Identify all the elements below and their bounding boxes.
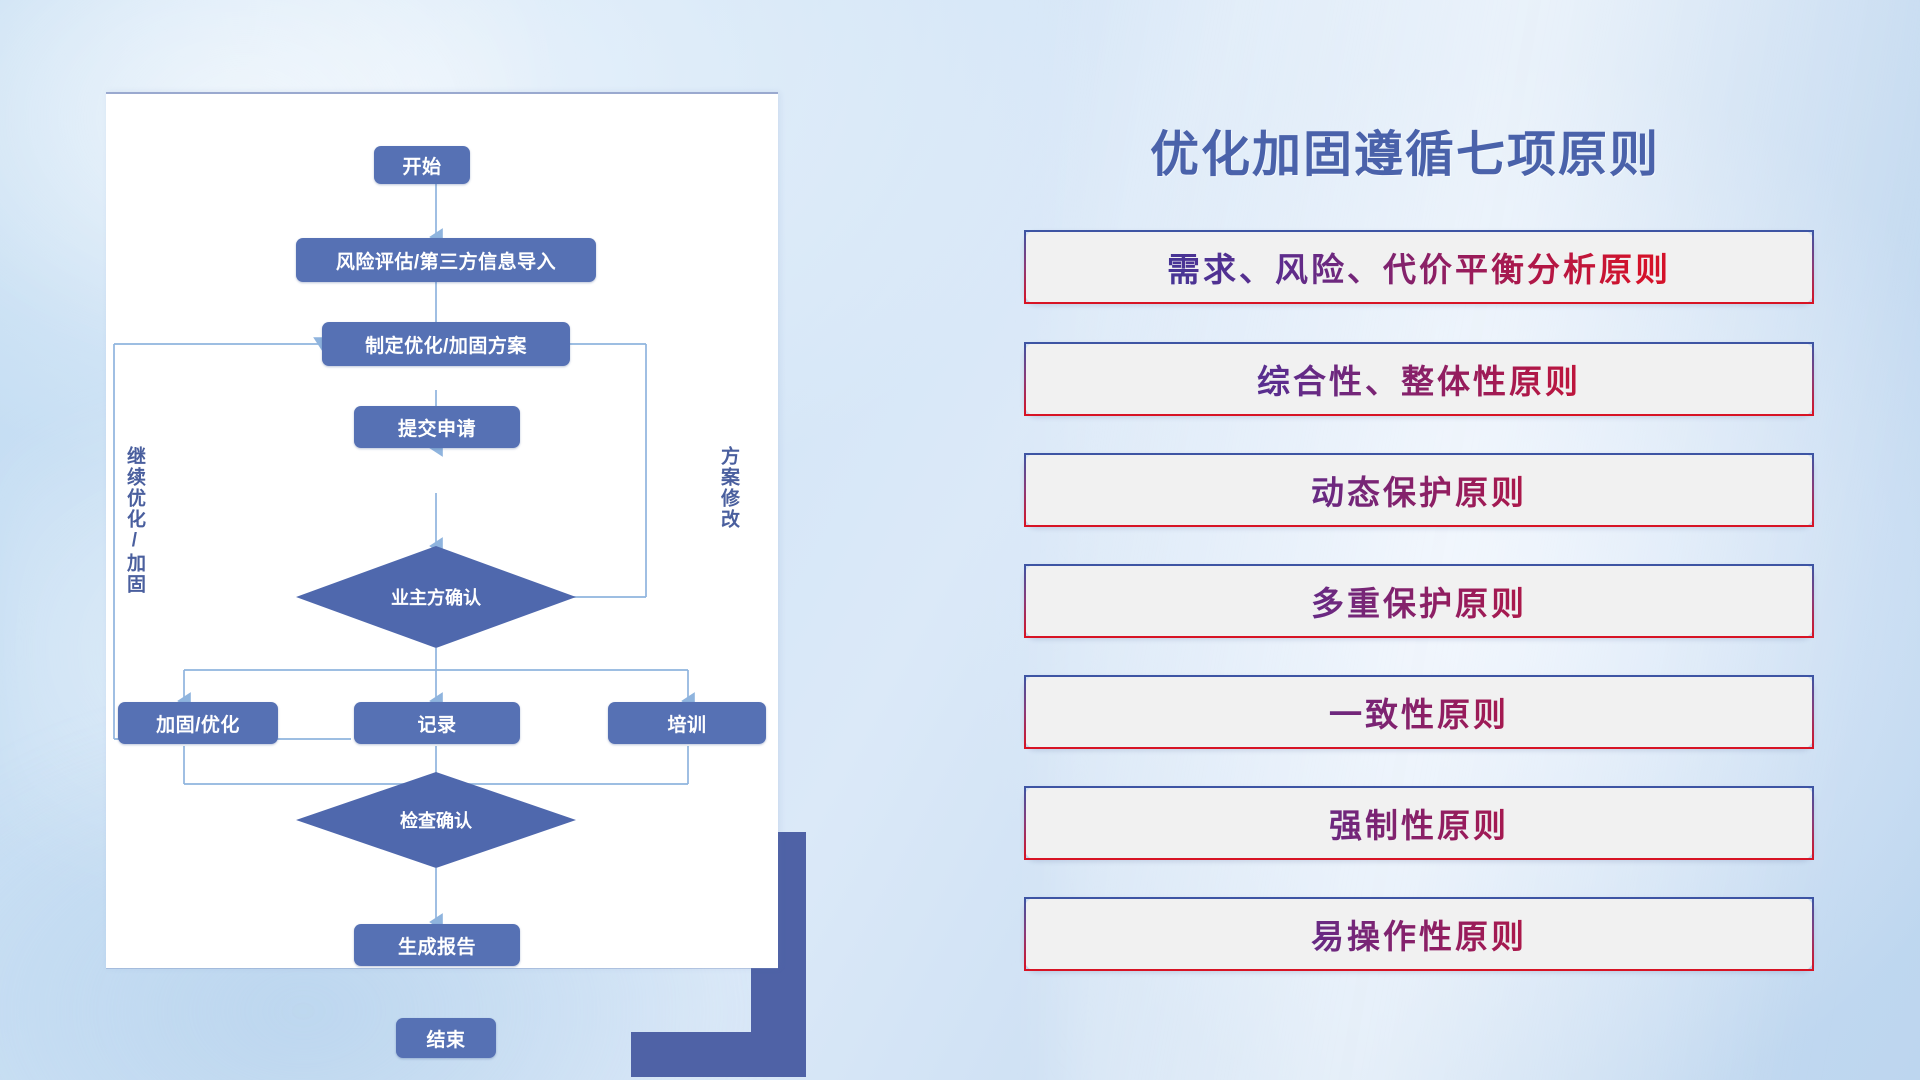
flow-edge-label-left-loop-text: 继续优化/加固	[124, 446, 145, 595]
principle-item-5[interactable]: 一致性原则	[1024, 675, 1814, 749]
principle-item-2-label: 综合性、整体性原则	[1024, 342, 1814, 416]
principle-item-2[interactable]: 综合性、整体性原则	[1024, 342, 1814, 416]
flow-node-record-label: 记录	[417, 710, 456, 737]
principle-item-4-label: 多重保护原则	[1024, 564, 1814, 638]
flow-node-make-plan-label: 制定优化/加固方案	[365, 331, 527, 358]
flow-node-end-label: 结束	[426, 1025, 465, 1052]
flow-edge-label-right-loop-text: 方案修改	[718, 446, 739, 530]
flow-node-generate-report[interactable]: 生成报告	[354, 924, 520, 966]
principle-item-3-label: 动态保护原则	[1024, 453, 1814, 527]
principle-item-6-label: 强制性原则	[1024, 786, 1814, 860]
flow-edge-label-right-loop: 方案修改	[718, 446, 738, 530]
flow-node-end[interactable]: 结束	[396, 1018, 496, 1058]
flow-node-generate-report-label: 生成报告	[398, 932, 476, 959]
principles-panel: 优化加固遵循七项原则 需求、风险、代价平衡分析原则 综合性、整体性原则 动态保护…	[1010, 100, 1840, 1020]
flow-node-record[interactable]: 记录	[354, 702, 520, 744]
flow-node-submit-label: 提交申请	[398, 414, 476, 441]
flow-node-training-label: 培训	[667, 710, 706, 737]
principle-item-4[interactable]: 多重保护原则	[1024, 564, 1814, 638]
flow-node-start-label: 开始	[402, 152, 441, 179]
flow-decision-check-confirm-label: 检查确认	[400, 807, 472, 833]
principle-item-7-label: 易操作性原则	[1024, 897, 1814, 971]
flow-edge-label-left-loop: 继续优化/加固	[124, 446, 144, 595]
flow-node-reinforce-label: 加固/优化	[156, 710, 240, 737]
page-title: 优化加固遵循七项原则	[1150, 115, 1660, 186]
principle-item-5-label: 一致性原则	[1024, 675, 1814, 749]
flow-node-risk-assess-label: 风险评估/第三方信息导入	[336, 247, 556, 274]
flow-node-risk-assess[interactable]: 风险评估/第三方信息导入	[296, 238, 596, 282]
flow-node-submit[interactable]: 提交申请	[354, 406, 520, 448]
flow-node-make-plan[interactable]: 制定优化/加固方案	[322, 322, 570, 366]
flow-decision-owner-confirm-label: 业主方确认	[391, 584, 481, 610]
flow-node-start[interactable]: 开始	[374, 146, 470, 184]
principle-item-1-label: 需求、风险、代价平衡分析原则	[1024, 230, 1814, 304]
principle-item-1[interactable]: 需求、风险、代价平衡分析原则	[1024, 230, 1814, 304]
flow-node-reinforce[interactable]: 加固/优化	[118, 702, 278, 744]
principle-item-3[interactable]: 动态保护原则	[1024, 453, 1814, 527]
principle-item-6[interactable]: 强制性原则	[1024, 786, 1814, 860]
flowchart-region: 开始 风险评估/第三方信息导入 制定优化/加固方案 提交申请 业主方确认 加固/…	[106, 92, 806, 992]
principle-item-7[interactable]: 易操作性原则	[1024, 897, 1814, 971]
flow-node-training[interactable]: 培训	[608, 702, 766, 744]
flowchart-card: 开始 风险评估/第三方信息导入 制定优化/加固方案 提交申请 业主方确认 加固/…	[106, 92, 778, 968]
